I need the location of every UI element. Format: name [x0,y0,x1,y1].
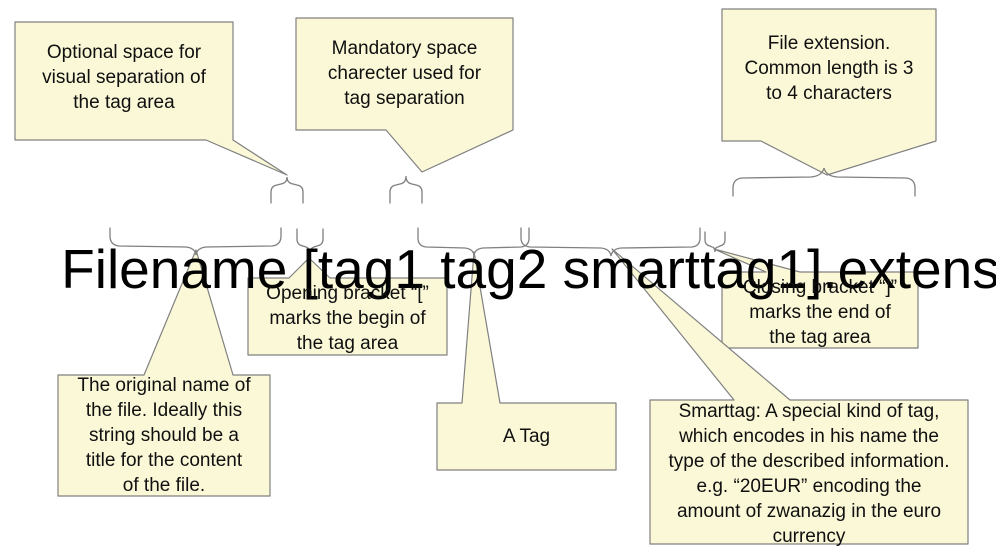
filename-segment-space3 [547,238,562,300]
callout-shape-mandatory-space [296,18,513,172]
filename-segment-open-bracket: [ [303,238,318,300]
filename-segment-extension: .extension [822,238,996,300]
filename-segment-base: Filename [61,238,287,300]
filename-segment-space2 [425,238,440,300]
filename-segment-tag2: tag2 [440,238,547,300]
diagram-canvas: Filename [tag1 tag2 smarttag1].extension… [0,0,996,556]
callout-shape-optional-space [15,22,287,175]
filename-segment-tag1: tag1 [318,238,425,300]
filename-segment-close-bracket: ] [807,238,822,300]
callout-shape-file-extension [722,9,936,175]
filename-segment-space1 [287,238,302,300]
filename-segment-smarttag: smarttag1 [563,238,808,300]
filename-string: Filename [tag1 tag2 smarttag1].extension [0,176,996,362]
